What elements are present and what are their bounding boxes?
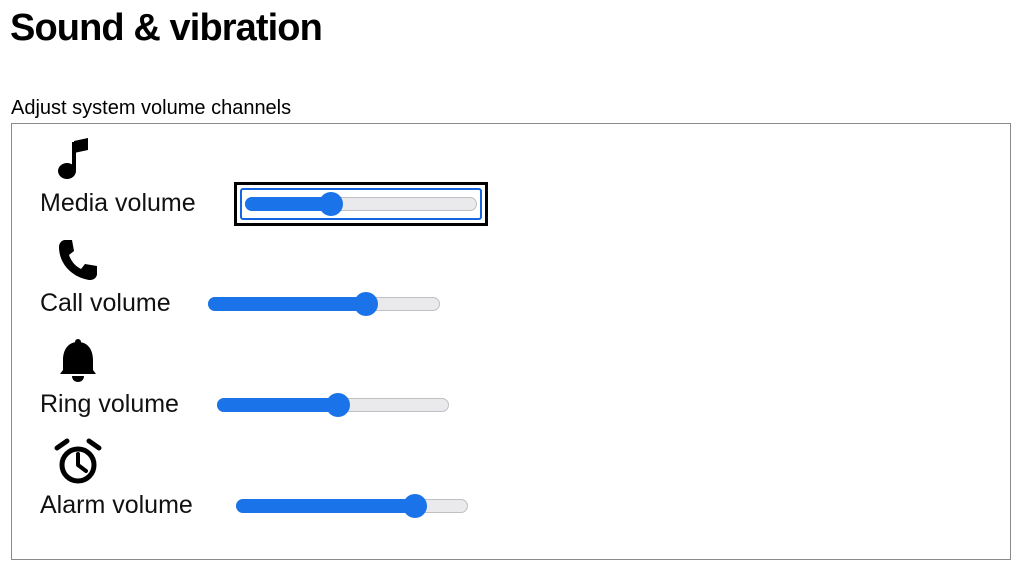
focus-ring-media [234, 182, 488, 226]
slider-media-volume[interactable] [245, 192, 477, 216]
slider-thumb[interactable] [403, 494, 427, 518]
phone-handset-icon [50, 234, 106, 286]
channel-row-ring: Ring volume [12, 327, 1010, 427]
slider-alarm-volume[interactable] [236, 494, 468, 518]
slider-ring-volume[interactable] [217, 393, 449, 417]
slider-thumb[interactable] [354, 292, 378, 316]
music-note-icon [50, 134, 106, 186]
channel-label-media: Media volume [40, 186, 196, 220]
volume-channels-panel: Media volume Call volume [11, 123, 1011, 560]
slider-call-volume[interactable] [208, 292, 440, 316]
slider-thumb[interactable] [326, 393, 350, 417]
slider-fill [236, 499, 415, 513]
channel-label-ring: Ring volume [40, 387, 179, 421]
slider-wrap-call [208, 288, 440, 320]
focus-ring-inner-media [240, 188, 482, 220]
slider-fill [208, 297, 366, 311]
alarm-clock-icon [50, 436, 106, 488]
slider-wrap-alarm [236, 490, 468, 522]
channel-row-alarm: Alarm volume [12, 428, 1010, 528]
slider-wrap-ring [217, 389, 449, 421]
slider-thumb[interactable] [319, 192, 343, 216]
slider-wrap-media [234, 188, 488, 220]
page-title: Sound & vibration [10, 4, 322, 52]
channel-row-media: Media volume [12, 126, 1010, 226]
channel-label-alarm: Alarm volume [40, 488, 193, 522]
slider-fill [217, 398, 338, 412]
page-subtitle: Adjust system volume channels [11, 95, 291, 121]
channel-row-call: Call volume [12, 226, 1010, 326]
channel-label-call: Call volume [40, 286, 171, 320]
bell-icon [50, 335, 106, 387]
